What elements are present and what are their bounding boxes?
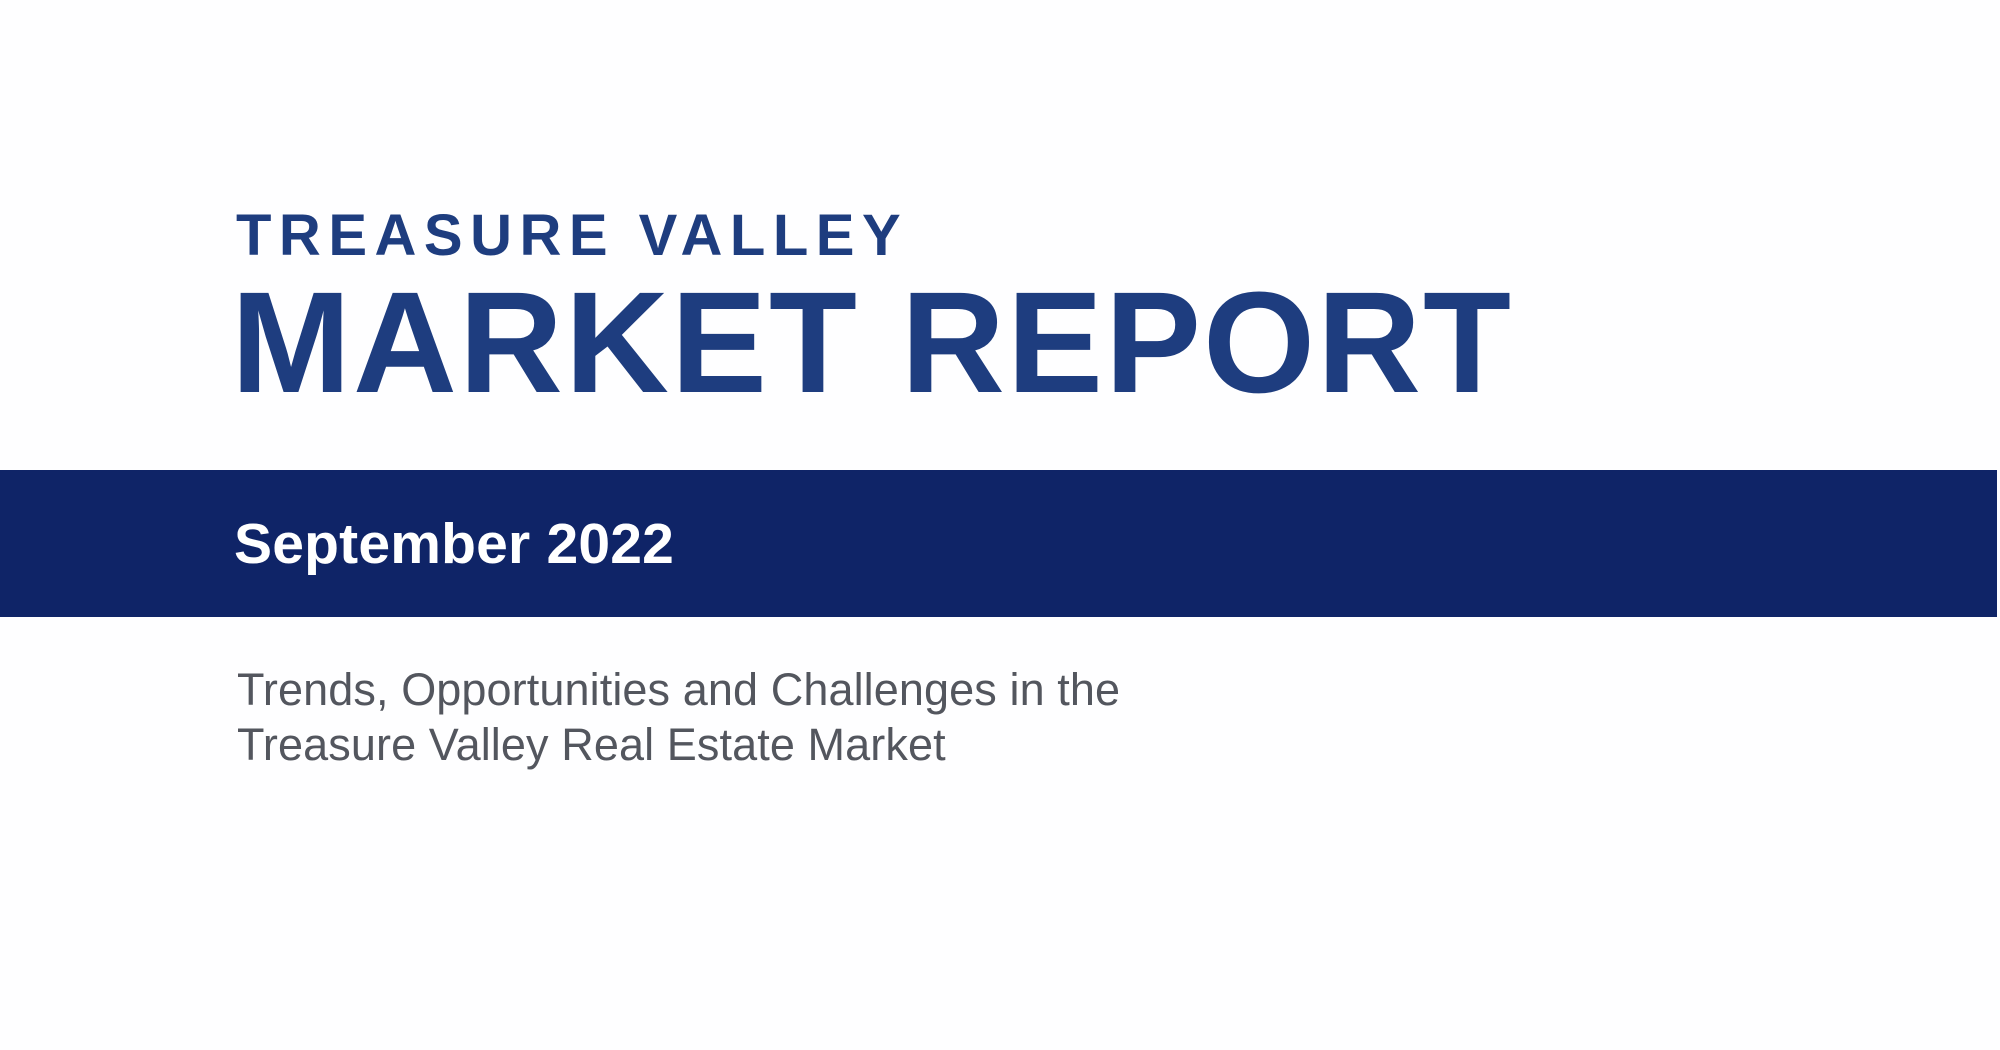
report-date-band: September 2022 — [0, 470, 1997, 617]
report-subtitle-line-1: Trends, Opportunities and Challenges in … — [237, 662, 1120, 717]
report-date-label: September 2022 — [234, 513, 674, 575]
report-subtitle-line-2: Treasure Valley Real Estate Market — [237, 717, 1120, 772]
report-eyebrow-title: TREASURE VALLEY — [236, 206, 908, 266]
report-subtitle: Trends, Opportunities and Challenges in … — [237, 662, 1120, 772]
report-cover-slide: TREASURE VALLEY MARKET REPORT September … — [0, 0, 2000, 1050]
page-title: MARKET REPORT — [231, 268, 1513, 418]
